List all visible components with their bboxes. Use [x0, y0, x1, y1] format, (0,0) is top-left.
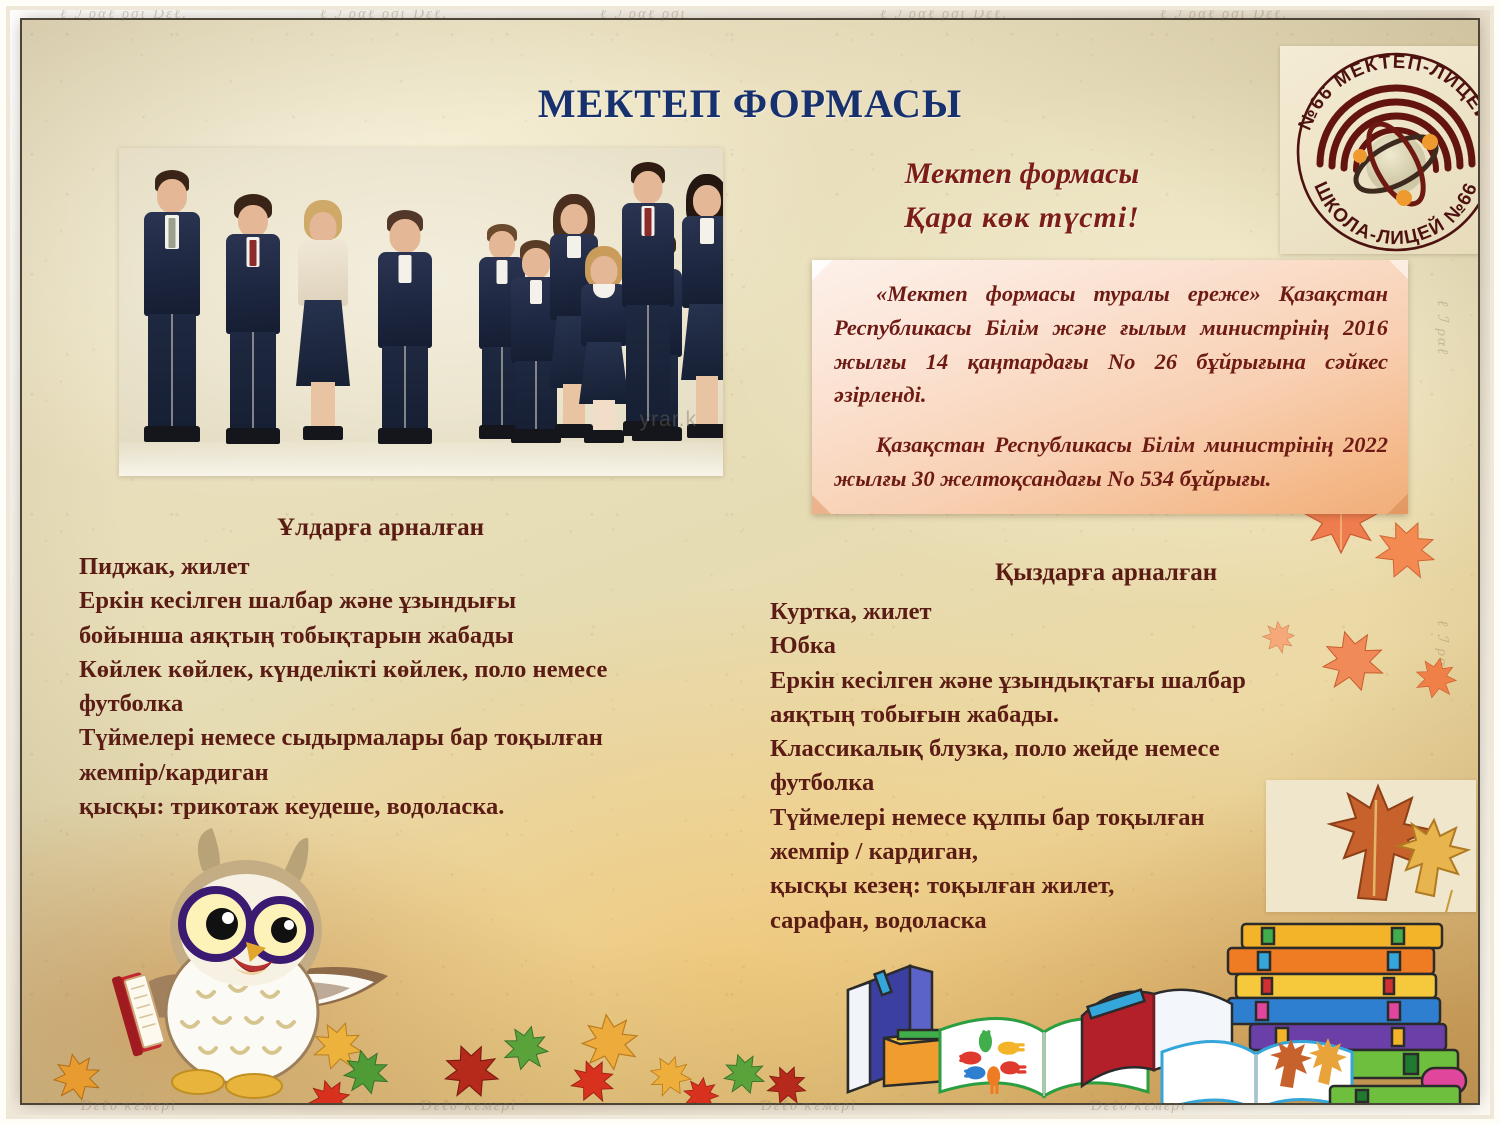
list-item: Классикалық блузка, поло жейде немесе [770, 732, 1390, 766]
list-item: Куртка, жилет [770, 595, 1390, 629]
list-item: жемпір / кардиган, [770, 835, 1390, 869]
slide-root: ℓ ℐ ραℓ ρσι Ɗεℓ. ℓ ℐ ραℓ ρσι Ɗεℓ. ℓ ℐ ρα… [0, 0, 1500, 1125]
girls-section-heading: Қыздарға арналған [995, 559, 1217, 587]
list-item: аяқтың тобығын жабады. [770, 698, 1390, 732]
maple-leaf-icon [433, 1033, 509, 1103]
maple-leaf-icon [576, 1008, 644, 1076]
school-logo: №66 МЕКТЕП-ЛИЦЕЙІ ШКОЛА-ЛИЦЕЙ №66 [1280, 46, 1478, 254]
list-item: Түймелері немесе құлпы бар тоқылған [770, 801, 1390, 835]
list-item: сарафан, водоласка [770, 904, 1390, 938]
list-item: қысқы кезең: тоқылған жилет, [770, 869, 1390, 903]
subtitle-line-2: Қара көк түсті! [812, 196, 1232, 240]
maple-leaf-icon [680, 1074, 723, 1103]
regulation-paragraph-2: Қазақстан Республикасы Білім министрінің… [834, 428, 1388, 496]
maple-leaf-icon [1364, 508, 1448, 592]
logo-top-arc-text: №66 МЕКТЕП-ЛИЦЕЙІ [1295, 52, 1478, 134]
photo-watermark: yrar.k [640, 408, 697, 432]
subtitle-block: Мектеп формасы Қара көк түсті! [812, 152, 1232, 239]
list-item: Юбка [770, 629, 1390, 663]
owl-mascot-illustration [70, 826, 400, 1103]
list-item: Еркін кесілген шалбар және ұзындығы [79, 584, 779, 618]
list-item: бойынша аяқтың тобықтарын жабады [79, 619, 779, 653]
maple-leaf-icon [562, 1050, 624, 1103]
girls-uniform-list: Куртка, жилет Юбка Еркін кесілген және ұ… [770, 595, 1390, 938]
books-illustration [832, 910, 1478, 1103]
list-item: футболка [770, 766, 1390, 800]
boys-uniform-list: Пиджак, жилет Еркін кесілген шалбар және… [79, 550, 779, 824]
list-item: футболка [79, 687, 779, 721]
page-title: МЕКТЕП ФОРМАСЫ [22, 80, 1478, 127]
list-item: Пиджак, жилет [79, 550, 779, 584]
svg-text:№66 МЕКТЕП-ЛИЦЕЙІ: №66 МЕКТЕП-ЛИЦЕЙІ [1295, 52, 1478, 134]
regulation-paragraph-1: «Мектеп формасы туралы ереже» Қазақстан … [834, 277, 1388, 412]
maple-leaf-icon [1410, 652, 1462, 704]
subtitle-line-1: Мектеп формасы [812, 152, 1232, 196]
regulation-callout-box: «Мектеп формасы туралы ереже» Қазақстан … [812, 260, 1408, 514]
list-item: Көйлек көйлек, күнделікті көйлек, поло н… [79, 653, 779, 687]
maple-leaf-icon [760, 1058, 815, 1103]
list-item: қысқы: трикотаж кеудеше, водоласка. [79, 790, 779, 824]
maple-leaf-icon [716, 1046, 771, 1101]
list-item: жемпір/кардиган [79, 756, 779, 790]
boys-section-heading: Ұлдарға арналған [277, 514, 484, 542]
maple-leaf-icon [640, 1046, 700, 1103]
parchment-canvas: МЕКТЕП ФОРМАСЫ Мектеп формасы Қара көк т… [22, 20, 1478, 1103]
list-item: Еркін кесілген және ұзындықтағы шалбар [770, 664, 1390, 698]
maple-leaf-icon [497, 1019, 555, 1077]
list-item: Түймелері немесе сыдырмалары бар тоқылға… [79, 721, 779, 755]
students-group-photo: yrar.k [119, 148, 723, 476]
